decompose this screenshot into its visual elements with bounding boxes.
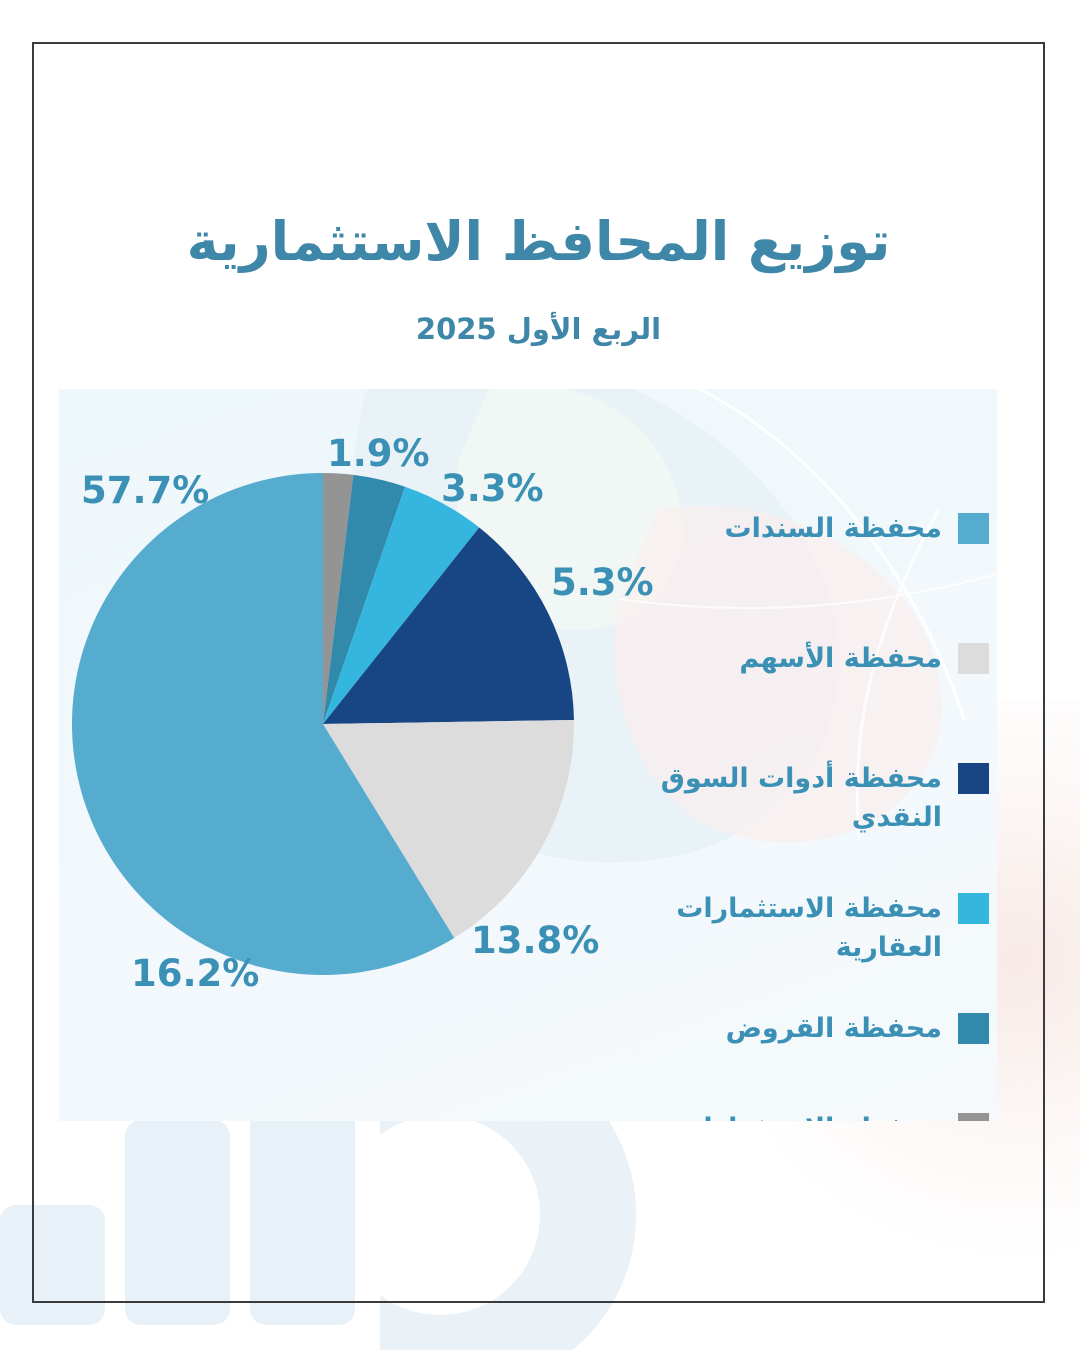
legend-item-label: محفظة الاستثمارات العقارية <box>619 889 942 967</box>
legend-item[interactable]: محفظة أدوات السوق النقدي <box>619 759 989 837</box>
legend-item[interactable]: محفظة الاستثمارات العقارية <box>619 889 989 967</box>
legend-item-label: محفظة القروض <box>619 1009 942 1048</box>
pie-slice-percent-label: 16.2% <box>131 952 259 995</box>
pie-slice-percent-label: 57.7% <box>81 469 209 512</box>
legend-color-swatch <box>958 513 989 544</box>
legend-item[interactable]: محفظة الأسهم <box>619 639 989 678</box>
page-title: توزيع المحافظ الاستثمارية <box>34 212 1043 271</box>
pie-slice-percent-label: 3.3% <box>441 467 544 510</box>
legend-item[interactable]: محفظة السندات <box>619 509 989 548</box>
legend-color-swatch <box>958 643 989 674</box>
legend-item[interactable]: محفظة القروض <box>619 1009 989 1048</box>
chart-panel: 1.9%3.3%5.3%13.8%16.2%57.7% محفظة السندا… <box>59 389 997 1121</box>
legend-color-swatch <box>958 893 989 924</box>
page-subtitle: الربع الأول 2025 <box>34 312 1043 346</box>
legend-item[interactable]: محفظة الاستثمارات السياحية <box>619 1109 989 1121</box>
legend-color-swatch <box>958 1013 989 1044</box>
legend-color-swatch <box>958 1113 989 1121</box>
legend-item-label: محفظة السندات <box>619 509 942 548</box>
pie-slice-percent-label: 13.8% <box>471 919 599 962</box>
legend-item-label: محفظة الأسهم <box>619 639 942 678</box>
legend-color-swatch <box>958 763 989 794</box>
poster-content: توزيع المحافظ الاستثمارية الربع الأول 20… <box>34 44 1043 1301</box>
legend-item-label: محفظة الاستثمارات السياحية <box>619 1109 942 1121</box>
pie-slice-percent-label: 5.3% <box>551 561 654 604</box>
pie-slice-percent-label: 1.9% <box>327 432 430 475</box>
legend-item-label: محفظة أدوات السوق النقدي <box>619 759 942 837</box>
